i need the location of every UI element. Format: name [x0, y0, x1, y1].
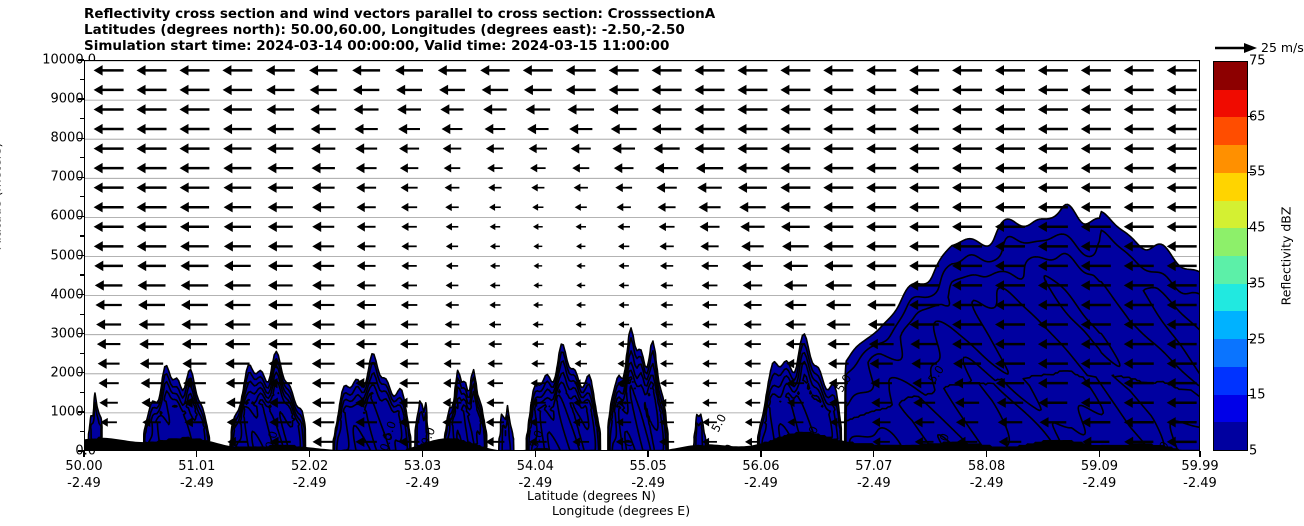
x-tick-longitude: -2.49	[1081, 475, 1118, 492]
cross-section-field: 5.010.020.025.020.05.025.010.020.05.025.…	[85, 61, 1200, 451]
x-tick-mark	[83, 451, 84, 457]
x-tick-label: 59.09-2.49	[1081, 458, 1118, 492]
plot-area: 5.010.020.025.020.05.025.010.020.05.025.…	[84, 60, 1200, 451]
x-tick-mark	[986, 451, 987, 457]
x-axis-label-longitude: Longitude (degrees E)	[552, 503, 690, 518]
x-tick-latitude: 59.09	[1081, 458, 1118, 475]
x-tick-label: 52.02-2.49	[291, 458, 328, 492]
x-tick-mark	[647, 451, 648, 457]
x-tick-latitude: 57.07	[855, 458, 892, 475]
x-tick-mark	[760, 451, 761, 457]
colorbar-band	[1214, 311, 1247, 339]
x-tick-longitude: -2.49	[1181, 475, 1218, 492]
colorbar-band	[1214, 90, 1247, 118]
x-tick-mark	[422, 451, 423, 457]
colorbar-band	[1214, 339, 1247, 367]
colorbar-tick-mark	[1248, 172, 1254, 173]
x-tick-mark	[309, 451, 310, 457]
x-tick-mark	[873, 451, 874, 457]
x-tick-latitude: 56.06	[742, 458, 779, 475]
x-tick-mark	[535, 451, 536, 457]
x-tick-longitude: -2.49	[742, 475, 779, 492]
colorbar-band	[1214, 62, 1247, 90]
x-tick-longitude: -2.49	[404, 475, 441, 492]
x-tick-latitude: 53.03	[404, 458, 441, 475]
colorbar-tick-label: 5	[1249, 444, 1257, 459]
wind-vector-key-label: 25 m/s	[1261, 40, 1304, 55]
x-tick-longitude: -2.49	[178, 475, 215, 492]
x-tick-latitude: 58.08	[968, 458, 1005, 475]
title-line-2: Latitudes (degrees north): 50.00,60.00, …	[84, 22, 1184, 38]
x-tick-label: 50.00-2.49	[65, 458, 102, 492]
x-tick-latitude: 52.02	[291, 458, 328, 475]
x-tick-longitude: -2.49	[65, 475, 102, 492]
x-tick-label: 58.08-2.49	[968, 458, 1005, 492]
colorbar-tick-mark	[1248, 395, 1254, 396]
colorbar-band	[1214, 256, 1247, 284]
colorbar-band	[1214, 145, 1247, 173]
x-tick-label: 51.01-2.49	[178, 458, 215, 492]
x-tick-mark	[1199, 451, 1200, 457]
colorbar-band	[1214, 395, 1247, 423]
x-axis-label-latitude: Latitude (degrees N)	[527, 488, 656, 503]
x-tick-latitude: 55.05	[630, 458, 667, 475]
x-tick-latitude: 51.01	[178, 458, 215, 475]
x-tick-mark	[196, 451, 197, 457]
colorbar-label: Reflectivity dBZ	[1279, 207, 1294, 306]
x-tick-label: 59.99-2.49	[1181, 458, 1218, 492]
x-tick-label: 56.06-2.49	[742, 458, 779, 492]
chart-title-block: Reflectivity cross section and wind vect…	[84, 6, 1184, 55]
colorbar-tick-mark	[1248, 116, 1254, 117]
x-tick-label: 53.03-2.49	[404, 458, 441, 492]
x-tick-longitude: -2.49	[968, 475, 1005, 492]
title-line-3: Simulation start time: 2024-03-14 00:00:…	[84, 38, 1184, 54]
x-tick-latitude: 59.99	[1181, 458, 1218, 475]
colorbar-tick-mark	[1248, 228, 1254, 229]
colorbar-band	[1214, 173, 1247, 201]
colorbar-tick-mark	[1248, 339, 1254, 340]
colorbar-band	[1214, 201, 1247, 229]
colorbar-tick-label: 75	[1249, 54, 1266, 69]
colorbar-tick-mark	[1248, 283, 1254, 284]
colorbar-band	[1214, 422, 1247, 450]
x-tick-latitude: 54.04	[517, 458, 554, 475]
colorbar-band	[1214, 117, 1247, 145]
colorbar-band	[1214, 284, 1247, 312]
x-tick-mark	[1099, 451, 1100, 457]
x-tick-longitude: -2.49	[291, 475, 328, 492]
x-tick-label: 57.07-2.49	[855, 458, 892, 492]
y-axis-label: Altitude (meters)	[0, 143, 4, 250]
colorbar-band	[1214, 228, 1247, 256]
colorbar-band	[1214, 367, 1247, 395]
x-tick-latitude: 50.00	[65, 458, 102, 475]
title-line-1: Reflectivity cross section and wind vect…	[84, 6, 1184, 22]
chart-canvas: Reflectivity cross section and wind vect…	[0, 0, 1304, 526]
x-tick-longitude: -2.49	[855, 475, 892, 492]
colorbar	[1213, 61, 1248, 451]
x-tick-label: 55.05-2.49	[630, 458, 667, 492]
x-tick-label: 54.04-2.49	[517, 458, 554, 492]
